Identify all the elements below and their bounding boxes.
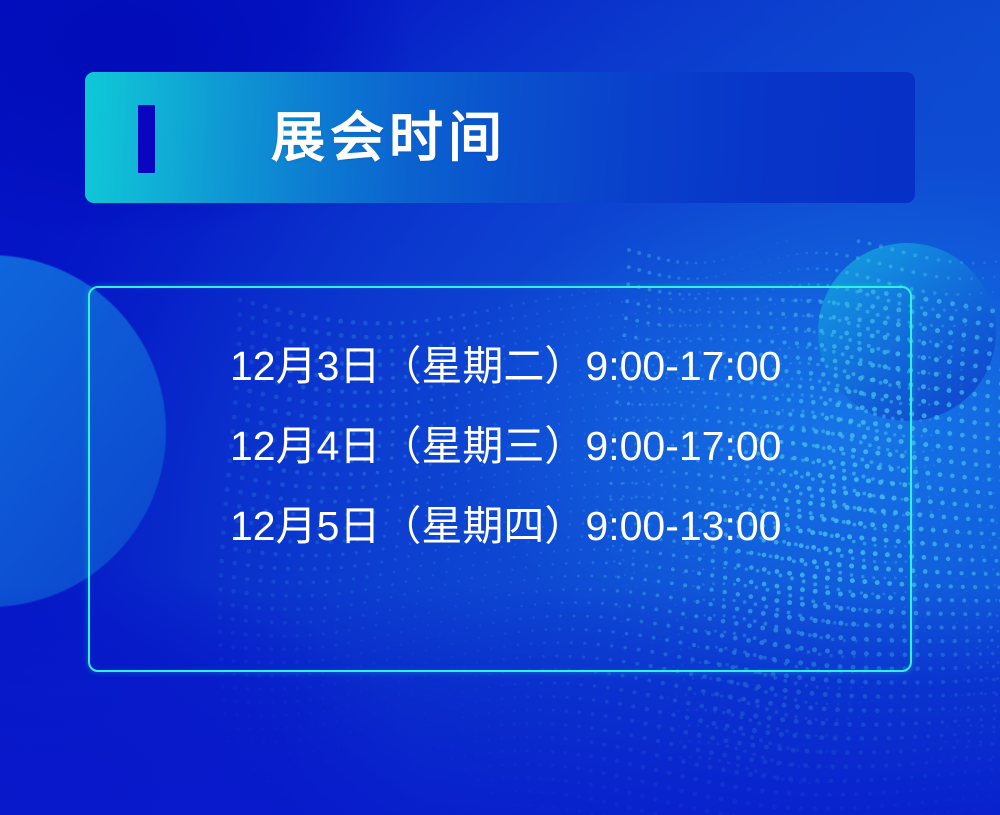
schedule-date: 12月4日 <box>230 423 380 469</box>
exhibition-time-poster: 展会时间 12月3日（星期二）9:00-17:00 12月4日（星期三）9:00… <box>0 0 1000 815</box>
list-item: 12月3日（星期二）9:00-17:00 <box>230 346 910 387</box>
schedule-time: 9:00-17:00 <box>585 423 781 469</box>
schedule-weekday: （星期三） <box>380 423 585 469</box>
section-header-bar: 展会时间 <box>85 72 915 203</box>
schedule-weekday: （星期四） <box>380 503 585 549</box>
accent-bar-icon <box>138 105 155 173</box>
schedule-time: 9:00-13:00 <box>585 503 781 549</box>
schedule-date: 12月5日 <box>230 503 380 549</box>
page-title: 展会时间 <box>271 111 507 165</box>
list-item: 12月5日（星期四）9:00-13:00 <box>230 506 910 547</box>
schedule-date: 12月3日 <box>230 343 380 389</box>
schedule-weekday: （星期二） <box>380 343 585 389</box>
schedule-list: 12月3日（星期二）9:00-17:00 12月4日（星期三）9:00-17:0… <box>230 346 910 547</box>
schedule-card: 12月3日（星期二）9:00-17:00 12月4日（星期三）9:00-17:0… <box>88 286 912 672</box>
list-item: 12月4日（星期三）9:00-17:00 <box>230 426 910 467</box>
schedule-time: 9:00-17:00 <box>585 343 781 389</box>
